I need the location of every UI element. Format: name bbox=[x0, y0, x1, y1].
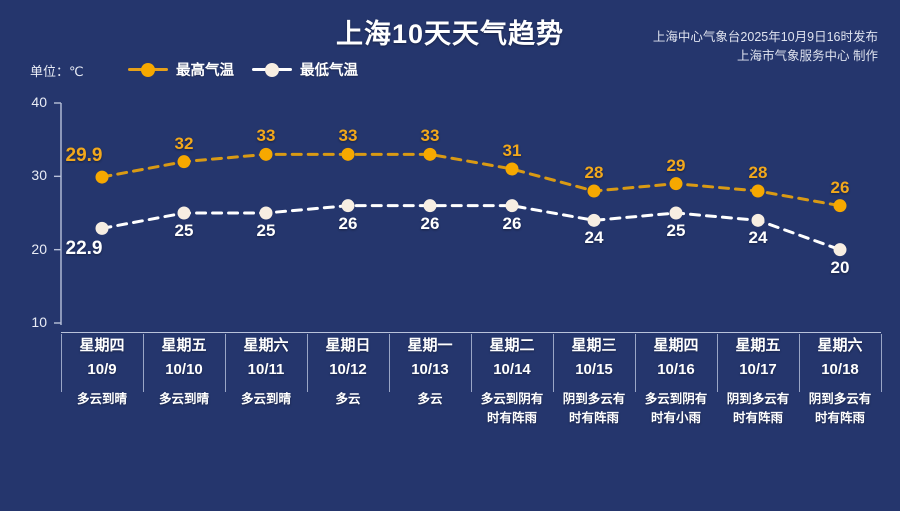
plot-canvas bbox=[0, 88, 900, 336]
weather-condition-label: 多云到晴 bbox=[61, 390, 143, 409]
date-label: 10/16 bbox=[635, 358, 717, 382]
y-axis-tick-20: 20 bbox=[13, 241, 47, 257]
column-divider bbox=[61, 334, 62, 392]
condition-line: 阴到多云有 bbox=[717, 390, 799, 409]
chart-header: 上海10天天气趋势 上海中心气象台2025年10月9日16时发布 上海市气象服务… bbox=[0, 0, 900, 56]
weekday-label: 星期四 bbox=[61, 334, 143, 358]
legend-label-high: 最高气温 bbox=[176, 59, 234, 80]
date-label: 10/9 bbox=[61, 358, 143, 382]
forecast-day-column-10-16[interactable]: 星期四10/16多云到阴有时有小雨 bbox=[635, 334, 717, 428]
issuer-line-1: 上海中心气象台2025年10月9日16时发布 bbox=[653, 28, 878, 47]
forecast-day-column-10-11[interactable]: 星期六10/11多云到晴 bbox=[225, 334, 307, 409]
condition-line: 时有阵雨 bbox=[553, 409, 635, 428]
weather-condition-label: 多云 bbox=[389, 390, 471, 409]
condition-line: 时有阵雨 bbox=[471, 409, 553, 428]
table-top-divider bbox=[61, 332, 881, 333]
condition-line: 时有阵雨 bbox=[717, 409, 799, 428]
weekday-label: 星期六 bbox=[799, 334, 881, 358]
y-axis-tick-40: 40 bbox=[13, 94, 47, 110]
condition-line: 多云到晴 bbox=[143, 390, 225, 409]
weather-condition-label: 多云到晴 bbox=[143, 390, 225, 409]
forecast-day-column-10-10[interactable]: 星期五10/10多云到晴 bbox=[143, 334, 225, 409]
column-divider bbox=[881, 334, 882, 392]
weather-condition-label: 阴到多云有时有阵雨 bbox=[799, 390, 881, 428]
high-temp-label-10-11: 33 bbox=[236, 126, 296, 146]
high-temp-label-10-16: 29 bbox=[646, 156, 706, 176]
date-label: 10/18 bbox=[799, 358, 881, 382]
legend-label-low: 最低气温 bbox=[300, 59, 358, 80]
condition-line: 阴到多云有 bbox=[553, 390, 635, 409]
date-label: 10/17 bbox=[717, 358, 799, 382]
low-temp-label-10-12: 26 bbox=[318, 214, 378, 234]
condition-line: 多云到阴有 bbox=[635, 390, 717, 409]
date-label: 10/14 bbox=[471, 358, 553, 382]
low-temp-label-10-10: 25 bbox=[154, 221, 214, 241]
low-temp-label-10-17: 24 bbox=[728, 228, 788, 248]
weather-condition-label: 多云到阴有时有阵雨 bbox=[471, 390, 553, 428]
forecast-day-column-10-18[interactable]: 星期六10/18阴到多云有时有阵雨 bbox=[799, 334, 881, 428]
weekday-label: 星期四 bbox=[635, 334, 717, 358]
condition-line: 多云 bbox=[307, 390, 389, 409]
weekday-label: 星期日 bbox=[307, 334, 389, 358]
legend-item-high-temp: 最高气温 bbox=[128, 58, 234, 80]
temperature-plot: 40302010 29.932333333312829282622.925252… bbox=[0, 88, 900, 336]
high-temp-label-10-18: 26 bbox=[810, 178, 870, 198]
low-temp-label-10-18: 20 bbox=[810, 258, 870, 278]
forecast-day-column-10-17[interactable]: 星期五10/17阴到多云有时有阵雨 bbox=[717, 334, 799, 428]
weekday-label: 星期二 bbox=[471, 334, 553, 358]
date-label: 10/10 bbox=[143, 358, 225, 382]
low-temp-label-10-9: 22.9 bbox=[54, 238, 114, 260]
weather-condition-label: 阴到多云有时有阵雨 bbox=[553, 390, 635, 428]
weekday-label: 星期一 bbox=[389, 334, 471, 358]
y-axis-tick-10: 10 bbox=[13, 314, 47, 330]
condition-line: 时有阵雨 bbox=[799, 409, 881, 428]
y-axis-tick-30: 30 bbox=[13, 167, 47, 183]
high-temp-label-10-14: 31 bbox=[482, 141, 542, 161]
forecast-day-column-10-15[interactable]: 星期三10/15阴到多云有时有阵雨 bbox=[553, 334, 635, 428]
condition-line: 时有小雨 bbox=[635, 409, 717, 428]
date-label: 10/13 bbox=[389, 358, 471, 382]
high-temp-label-10-15: 28 bbox=[564, 163, 624, 183]
legend-marker-high-icon bbox=[128, 61, 168, 77]
date-label: 10/11 bbox=[225, 358, 307, 382]
date-label: 10/15 bbox=[553, 358, 635, 382]
forecast-day-column-10-9[interactable]: 星期四10/9多云到晴 bbox=[61, 334, 143, 409]
chart-legend: 单位：℃ 最高气温 最低气温 bbox=[0, 58, 900, 84]
condition-line: 多云到晴 bbox=[225, 390, 307, 409]
low-temp-label-10-11: 25 bbox=[236, 221, 296, 241]
condition-line: 多云到晴 bbox=[61, 390, 143, 409]
weekday-label: 星期三 bbox=[553, 334, 635, 358]
low-temp-label-10-14: 26 bbox=[482, 214, 542, 234]
weather-condition-label: 多云到晴 bbox=[225, 390, 307, 409]
forecast-day-table: 星期四10/9多云到晴星期五10/10多云到晴星期六10/11多云到晴星期日10… bbox=[61, 332, 881, 442]
forecast-day-column-10-12[interactable]: 星期日10/12多云 bbox=[307, 334, 389, 409]
weather-condition-label: 阴到多云有时有阵雨 bbox=[717, 390, 799, 428]
weekday-label: 星期六 bbox=[225, 334, 307, 358]
legend-item-low-temp: 最低气温 bbox=[252, 58, 358, 80]
forecast-day-column-10-13[interactable]: 星期一10/13多云 bbox=[389, 334, 471, 409]
high-temp-label-10-9: 29.9 bbox=[54, 145, 114, 167]
forecast-day-column-10-14[interactable]: 星期二10/14多云到阴有时有阵雨 bbox=[471, 334, 553, 428]
date-label: 10/12 bbox=[307, 358, 389, 382]
low-temp-label-10-15: 24 bbox=[564, 228, 624, 248]
condition-line: 多云 bbox=[389, 390, 471, 409]
condition-line: 多云到阴有 bbox=[471, 390, 553, 409]
low-temp-label-10-13: 26 bbox=[400, 214, 460, 234]
condition-line: 阴到多云有 bbox=[799, 390, 881, 409]
weather-condition-label: 多云 bbox=[307, 390, 389, 409]
high-temp-label-10-12: 33 bbox=[318, 126, 378, 146]
high-temp-label-10-13: 33 bbox=[400, 126, 460, 146]
weekday-label: 星期五 bbox=[143, 334, 225, 358]
high-temp-label-10-10: 32 bbox=[154, 134, 214, 154]
high-temp-label-10-17: 28 bbox=[728, 163, 788, 183]
low-temp-label-10-16: 25 bbox=[646, 221, 706, 241]
legend-marker-low-icon bbox=[252, 61, 292, 77]
weather-condition-label: 多云到阴有时有小雨 bbox=[635, 390, 717, 428]
weekday-label: 星期五 bbox=[717, 334, 799, 358]
unit-label: 单位：℃ bbox=[30, 61, 84, 80]
